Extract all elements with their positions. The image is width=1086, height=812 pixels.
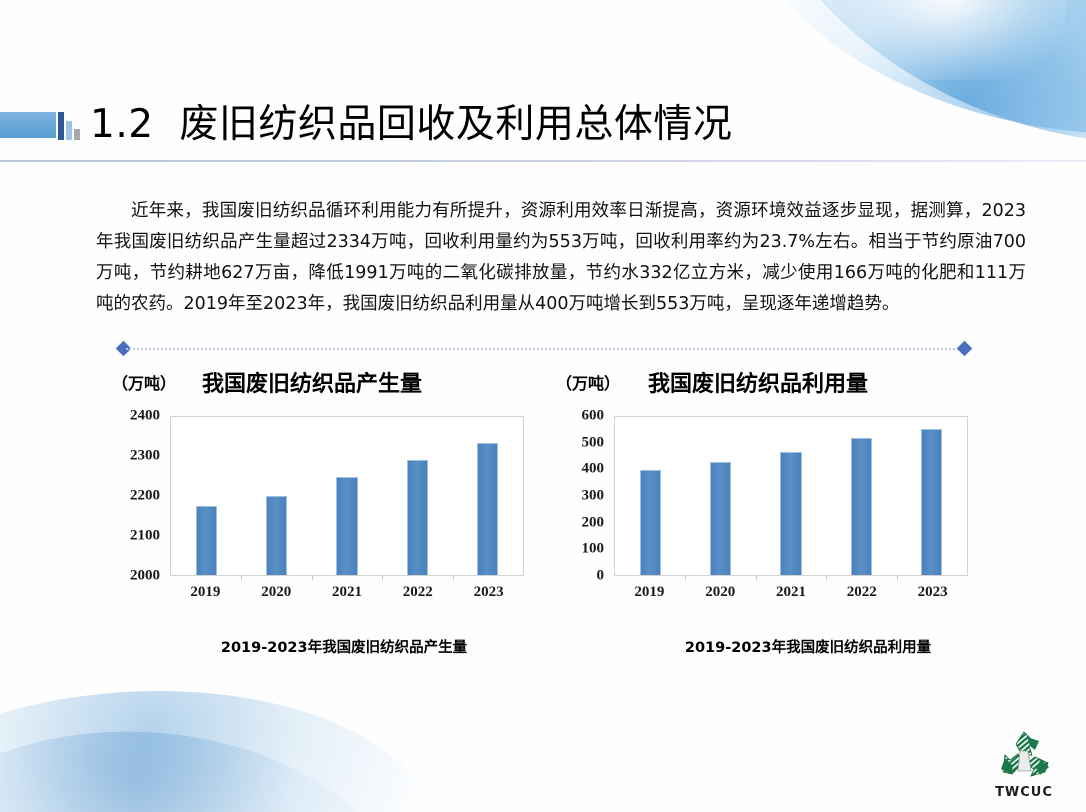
bar-cell [756, 417, 826, 575]
y-tick-label: 2100 [130, 528, 160, 545]
x-tick-label: 2019 [170, 584, 241, 601]
chart-generation-title: 我国废旧纺织品产生量 [202, 366, 422, 398]
x-tick-label: 2021 [312, 584, 383, 601]
bottom-left-swoosh-accent [0, 719, 408, 812]
bar-2020 [266, 496, 287, 575]
y-tick-label: 2200 [130, 488, 160, 505]
bar-cell [826, 417, 896, 575]
chart-generation-plot-area: 24002300220021002000 2019202020212022202… [104, 416, 524, 616]
x-tick-label: 2023 [897, 584, 968, 601]
heading-text: 废旧纺织品回收及利用总体情况 [179, 102, 732, 147]
bar-2022 [407, 460, 428, 575]
bar-cell [241, 417, 311, 575]
chart-utilization-y-axis: 6005004003002001000 [548, 416, 610, 578]
y-tick-label: 300 [582, 488, 605, 505]
x-tick-label: 2022 [382, 584, 453, 601]
y-tick-label: 0 [597, 568, 605, 585]
header-accent-bar [0, 112, 56, 138]
chart-utilization-x-axis: 20192020202120222023 [614, 584, 968, 601]
dotted-line [126, 348, 962, 350]
bar-2023 [921, 429, 942, 575]
bar-2021 [336, 477, 357, 575]
chart-generation-x-axis: 20192020202120222023 [170, 584, 524, 601]
x-tick-label: 2022 [826, 584, 897, 601]
chart-utilization-title: 我国废旧纺织品利用量 [648, 366, 868, 398]
x-tick-label: 2020 [685, 584, 756, 601]
y-tick-label: 600 [582, 408, 605, 425]
bar-chart-icon [58, 110, 88, 140]
recycling-icon [991, 728, 1057, 784]
bar-cell [453, 417, 523, 575]
chart-utilization-caption: 2019-2023年我国废旧纺织品利用量 [548, 636, 1018, 657]
bar-2019 [196, 506, 217, 575]
diamond-marker-right [957, 341, 973, 357]
chart-generation-y-axis: 24002300220021002000 [104, 416, 166, 578]
y-tick-label: 100 [582, 541, 605, 558]
header-divider-rule [0, 160, 1086, 162]
y-tick-label: 2000 [130, 568, 160, 585]
bar-cell [685, 417, 755, 575]
bar-2020 [710, 462, 731, 575]
chart-generation-unit: （万吨） [112, 370, 176, 394]
chart-utilization-unit: （万吨） [556, 370, 620, 394]
slide-header: 1.2 废旧纺织品回收及利用总体情况 [0, 96, 1086, 158]
top-right-highlight [826, 0, 1066, 80]
y-tick-label: 2400 [130, 408, 160, 425]
page-title: 1.2 废旧纺织品回收及利用总体情况 [90, 96, 732, 154]
chart-utilization-bars [614, 416, 968, 576]
x-tick-label: 2021 [756, 584, 827, 601]
chart-utilization-plot-area: 6005004003002001000 20192020202120222023 [548, 416, 968, 616]
y-tick-label: 2300 [130, 448, 160, 465]
x-tick-label: 2023 [453, 584, 524, 601]
bar-2021 [780, 452, 801, 575]
heading-number: 1.2 [90, 102, 154, 147]
bar-cell [171, 417, 241, 575]
body-paragraph: 近年来，我国废旧纺织品循环利用能力有所提升，资源利用效率日渐提高，资源环境效益逐… [96, 196, 1026, 320]
bar-cell [897, 417, 967, 575]
y-tick-label: 400 [582, 461, 605, 478]
chart-utilization: （万吨） 我国废旧纺织品利用量 6005004003002001000 2019… [548, 366, 968, 616]
decorative-divider [118, 342, 970, 356]
bar-2023 [477, 443, 498, 575]
y-tick-label: 200 [582, 514, 605, 531]
x-tick-label: 2019 [614, 584, 685, 601]
y-tick-label: 500 [582, 434, 605, 451]
chart-generation-caption: 2019-2023年我国废旧纺织品产生量 [104, 636, 554, 657]
chart-generation: （万吨） 我国废旧纺织品产生量 24002300220021002000 201… [104, 366, 524, 616]
bar-cell [615, 417, 685, 575]
bar-cell [312, 417, 382, 575]
bottom-left-swoosh-decoration [0, 671, 451, 812]
x-tick-label: 2020 [241, 584, 312, 601]
chart-utilization-header: （万吨） 我国废旧纺织品利用量 [548, 366, 968, 406]
bar-cell [382, 417, 452, 575]
chart-generation-header: （万吨） 我国废旧纺织品产生量 [104, 366, 524, 406]
chart-generation-bars [170, 416, 524, 576]
logo-text: TWCUC [976, 785, 1072, 800]
bar-2022 [851, 438, 872, 575]
bar-2019 [640, 470, 661, 575]
organization-logo: TWCUC [976, 728, 1072, 802]
slide-canvas: 1.2 废旧纺织品回收及利用总体情况 近年来，我国废旧纺织品循环利用能力有所提升… [0, 0, 1086, 812]
